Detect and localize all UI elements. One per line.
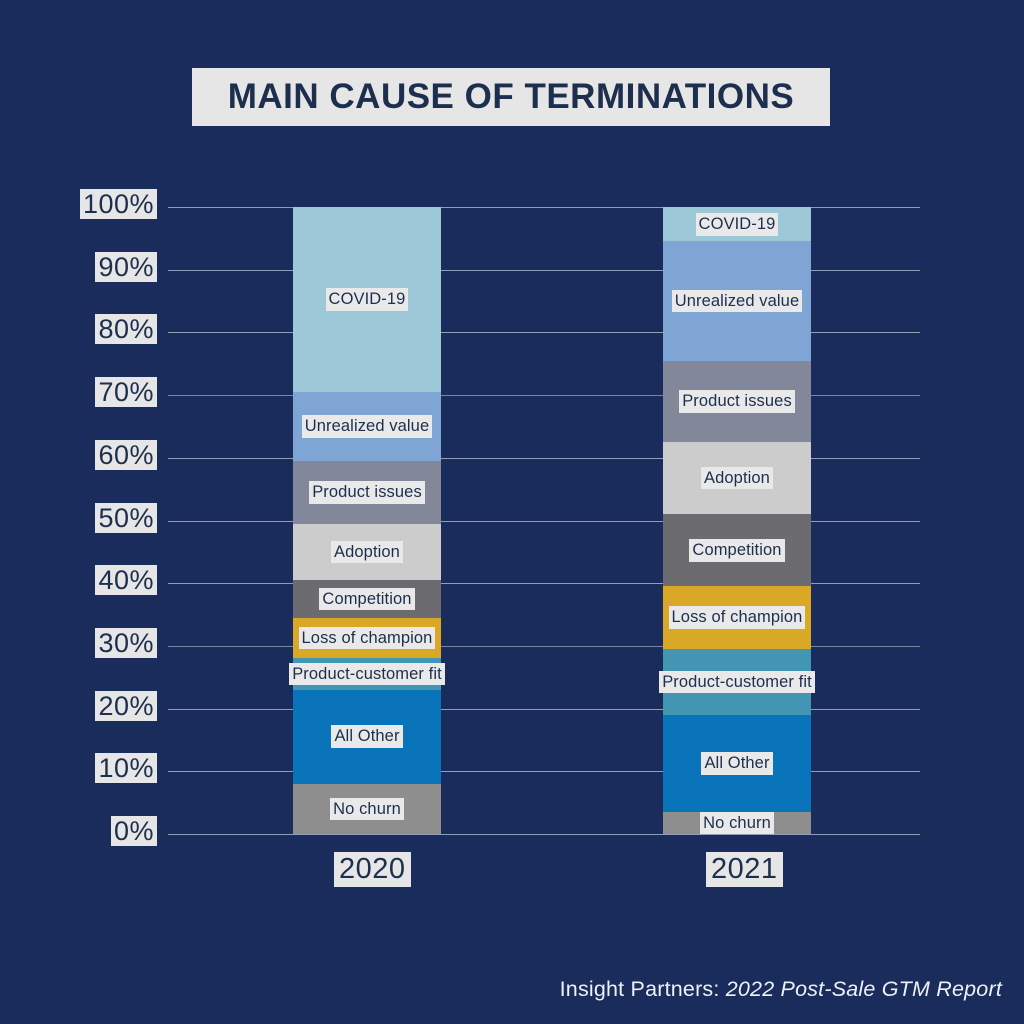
bar-segment-label: Product-customer fit xyxy=(659,671,815,694)
source-title: 2022 Post-Sale GTM Report xyxy=(726,977,1002,1001)
plot-area: COVID-19Unrealized valueProduct issuesAd… xyxy=(168,207,920,834)
bar-segment-label: COVID-19 xyxy=(696,213,779,236)
y-axis-tick-text: 80% xyxy=(95,314,157,344)
bar-segment[interactable]: Product-customer fit xyxy=(293,658,441,689)
y-axis-tick-label: 70% xyxy=(0,378,160,408)
bar-segment-label: No churn xyxy=(330,798,404,821)
bar-segment[interactable]: Adoption xyxy=(293,524,441,580)
y-axis-tick-label: 90% xyxy=(0,253,160,283)
y-axis-tick-label: 60% xyxy=(0,441,160,471)
bar-segment[interactable]: Competition xyxy=(663,514,811,586)
bar-segment[interactable]: Unrealized value xyxy=(293,392,441,461)
bar-2020[interactable]: COVID-19Unrealized valueProduct issuesAd… xyxy=(293,207,441,834)
page-title: MAIN CAUSE OF TERMINATIONS xyxy=(228,77,795,117)
gridline xyxy=(168,834,920,835)
y-axis-tick-text: 0% xyxy=(111,816,157,846)
y-axis-tick-label: 80% xyxy=(0,315,160,345)
bar-segment[interactable]: Unrealized value xyxy=(663,241,811,360)
bar-segment[interactable]: COVID-19 xyxy=(293,207,441,392)
y-axis-tick-text: 30% xyxy=(95,628,157,658)
bar-segment[interactable]: Product-customer fit xyxy=(663,649,811,715)
bar-segment-label: COVID-19 xyxy=(326,288,409,311)
y-axis-tick-label: 0% xyxy=(0,817,160,847)
y-axis-tick-label: 10% xyxy=(0,754,160,784)
bar-segment[interactable]: Product issues xyxy=(293,461,441,524)
chart-canvas: MAIN CAUSE OF TERMINATIONS COVID-19Unrea… xyxy=(0,0,1024,1024)
y-axis-tick-text: 40% xyxy=(95,565,157,595)
y-axis-tick-label: 40% xyxy=(0,566,160,596)
y-axis-tick-text: 70% xyxy=(95,377,157,407)
bar-segment-label: Loss of champion xyxy=(669,606,806,629)
bar-segment[interactable]: COVID-19 xyxy=(663,207,811,241)
bar-segment-label: No churn xyxy=(700,812,774,835)
source-attribution: Insight Partners: 2022 Post-Sale GTM Rep… xyxy=(560,977,1002,1002)
bar-segment-label: Loss of champion xyxy=(299,627,436,650)
bar-segment-label: All Other xyxy=(701,752,772,775)
bar-segment[interactable]: Loss of champion xyxy=(293,618,441,659)
bar-segment[interactable]: All Other xyxy=(663,715,811,812)
bar-segment-label: Competition xyxy=(689,539,784,562)
bar-segment-label: Product issues xyxy=(309,481,425,504)
bar-segment[interactable]: Competition xyxy=(293,580,441,618)
y-axis-tick-text: 10% xyxy=(95,753,157,783)
bar-segment-label: Adoption xyxy=(701,467,773,490)
bar-segment[interactable]: Loss of champion xyxy=(663,586,811,649)
bar-segment[interactable]: No churn xyxy=(293,784,441,834)
y-axis-tick-text: 90% xyxy=(95,252,157,282)
y-axis-tick-text: 50% xyxy=(95,503,157,533)
x-axis-label-2020: 2020 xyxy=(334,852,411,887)
bar-segment-label: Adoption xyxy=(331,541,403,564)
bar-segment-label: Product-customer fit xyxy=(289,663,445,686)
chart-title-box: MAIN CAUSE OF TERMINATIONS xyxy=(192,68,830,126)
y-axis-tick-text: 20% xyxy=(95,691,157,721)
bar-segment-label: Competition xyxy=(319,588,414,611)
bar-segment-label: All Other xyxy=(331,725,402,748)
y-axis-tick-text: 60% xyxy=(95,440,157,470)
bar-segment[interactable]: All Other xyxy=(293,690,441,784)
bar-segment[interactable]: No churn xyxy=(663,812,811,834)
bar-segment-label: Product issues xyxy=(679,390,795,413)
bar-segment[interactable]: Product issues xyxy=(663,361,811,443)
bar-segment-label: Unrealized value xyxy=(302,415,433,438)
bar-segment[interactable]: Adoption xyxy=(663,442,811,514)
y-axis-tick-label: 30% xyxy=(0,629,160,659)
x-axis-label-2021: 2021 xyxy=(706,852,783,887)
bar-segment-label: Unrealized value xyxy=(672,290,803,313)
y-axis-tick-label: 20% xyxy=(0,692,160,722)
bar-2021[interactable]: COVID-19Unrealized valueProduct issuesAd… xyxy=(663,207,811,834)
source-prefix: Insight Partners: xyxy=(560,977,726,1001)
y-axis-tick-label: 50% xyxy=(0,504,160,534)
y-axis-tick-text: 100% xyxy=(80,189,157,219)
y-axis-tick-label: 100% xyxy=(0,190,160,220)
